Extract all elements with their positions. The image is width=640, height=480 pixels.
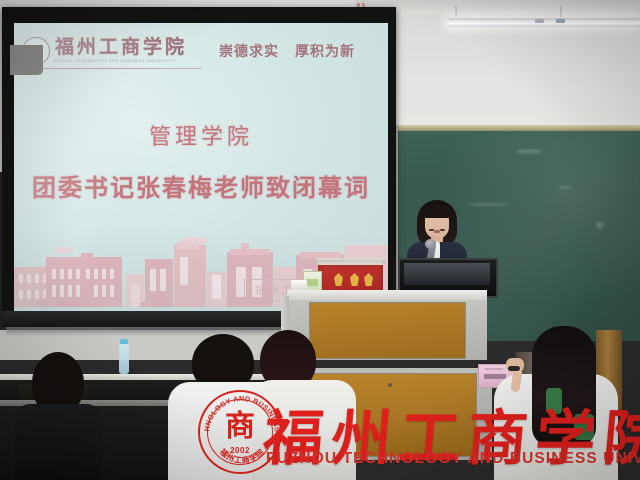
water-bottle bbox=[119, 344, 129, 374]
microphone-head-icon bbox=[425, 239, 436, 249]
motto-left: 崇德求实 bbox=[219, 44, 279, 60]
speaker-fringe bbox=[423, 205, 451, 218]
wrist-band bbox=[508, 366, 520, 371]
corner-mark: 8 5 bbox=[357, 3, 365, 9]
audience-person bbox=[252, 330, 348, 480]
audience-person bbox=[14, 352, 100, 480]
desk-knob bbox=[388, 383, 392, 387]
logo-name-en: FUZHOU TECHNOLOGY AND BUSINESS UNIVERSIT… bbox=[54, 60, 189, 64]
lecture-hall-photo: 商 福州工商学院 FUZHOU TECHNOLOGY AND BUSINESS … bbox=[0, 0, 640, 480]
logo-name-cn: 福州工商学院 bbox=[55, 38, 187, 57]
lamp-fitting bbox=[556, 19, 565, 23]
screen-gray-patch bbox=[10, 45, 43, 75]
slide-heading: 管理学院 bbox=[14, 119, 388, 151]
ceiling-strip bbox=[355, 0, 640, 14]
slide-subheading: 团委书记张春梅老师致闭幕词 bbox=[14, 168, 388, 203]
speaker-mouth bbox=[434, 230, 440, 233]
monitor-screen bbox=[404, 263, 490, 285]
lamp-fitting bbox=[535, 19, 544, 23]
paper-cups bbox=[291, 280, 307, 290]
motto-right: 厚积为新 bbox=[295, 44, 355, 60]
slide-university-logo: 商 福州工商学院 FUZHOU TECHNOLOGY AND BUSINESS … bbox=[22, 37, 187, 65]
audience-person bbox=[490, 326, 620, 480]
slide-motto: 崇德求实厚积为新 bbox=[219, 41, 355, 61]
logo-divider bbox=[24, 68, 202, 69]
